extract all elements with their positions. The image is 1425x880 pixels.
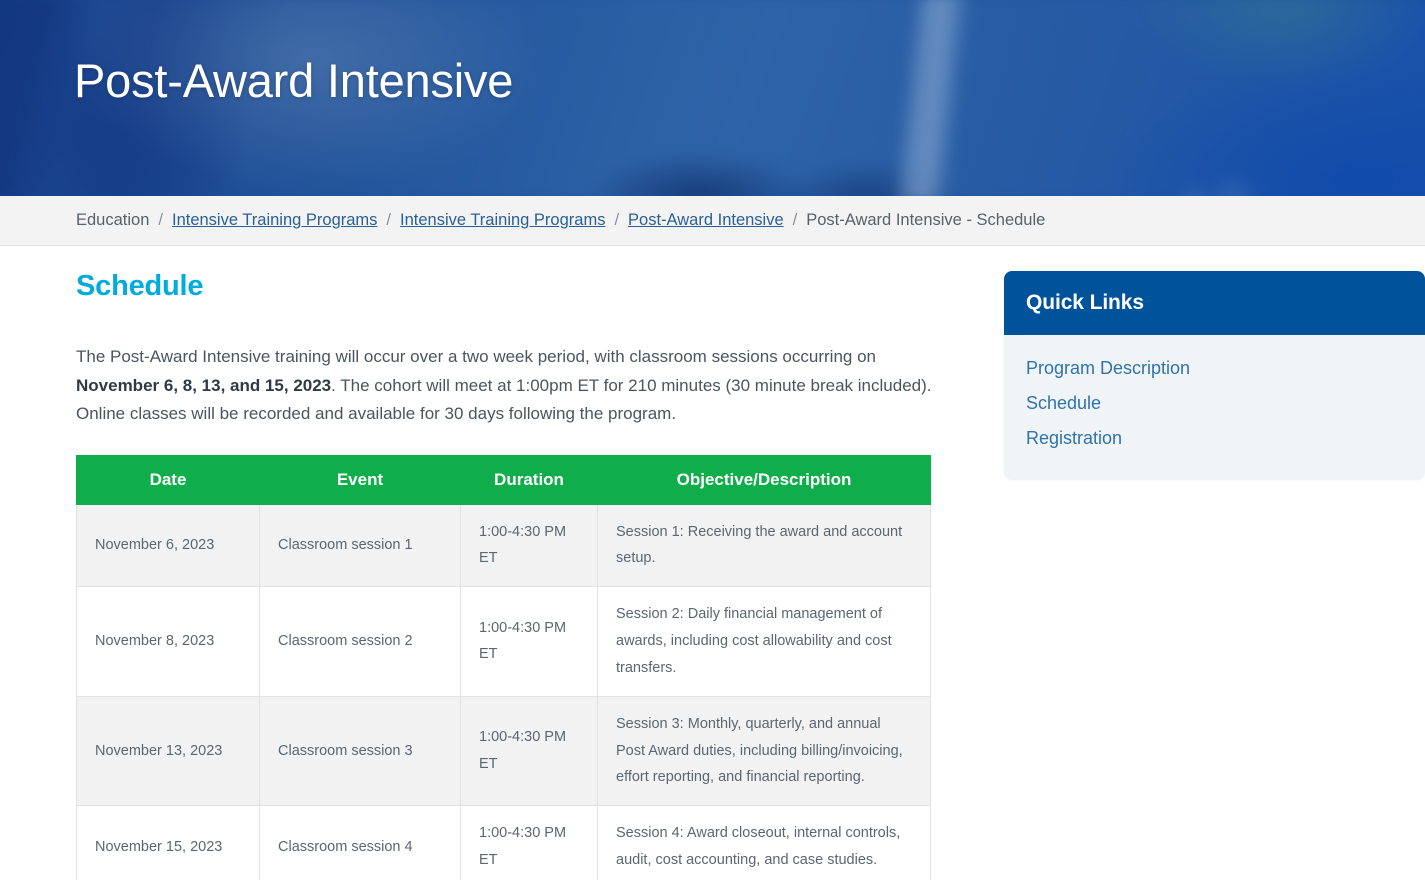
quick-links-body: Program DescriptionScheduleRegistration (1004, 335, 1425, 480)
breadcrumb: Education/Intensive Training Programs/In… (76, 211, 1045, 230)
intro-dates-bold: November 6, 8, 13, and 15, 2023 (76, 376, 331, 395)
schedule-table: Date Event Duration Objective/Descriptio… (76, 455, 931, 880)
cell-duration: 1:00-4:30 PM ET (461, 696, 598, 805)
breadcrumb-item-1: Education (76, 211, 149, 230)
table-row: November 8, 2023Classroom session 21:00-… (77, 587, 931, 696)
column-header-duration: Duration (461, 455, 598, 504)
table-row: November 15, 2023Classroom session 41:00… (77, 806, 931, 880)
breadcrumb-item-5: Post-Award Intensive - Schedule (806, 211, 1045, 230)
schedule-table-body: November 6, 2023Classroom session 11:00-… (77, 504, 931, 880)
breadcrumb-separator: / (614, 211, 619, 230)
breadcrumb-item-3[interactable]: Intensive Training Programs (400, 211, 605, 230)
cell-date: November 6, 2023 (77, 504, 260, 587)
quick-links-title: Quick Links (1026, 291, 1403, 315)
breadcrumb-separator: / (158, 211, 163, 230)
quick-link-item-3[interactable]: Registration (1026, 421, 1403, 456)
page-content: Schedule The Post-Award Intensive traini… (0, 246, 1425, 880)
column-header-objective: Objective/Description (598, 455, 931, 504)
quick-links-panel: Quick Links Program DescriptionScheduleR… (1004, 271, 1425, 480)
table-row: November 13, 2023Classroom session 31:00… (77, 696, 931, 805)
cell-date: November 15, 2023 (77, 806, 260, 880)
cell-duration: 1:00-4:30 PM ET (461, 587, 598, 696)
cell-duration: 1:00-4:30 PM ET (461, 504, 598, 587)
quick-links-header: Quick Links (1004, 271, 1425, 335)
breadcrumb-separator: / (793, 211, 798, 230)
breadcrumb-bar: Education/Intensive Training Programs/In… (0, 196, 1425, 246)
cell-description: Session 1: Receiving the award and accou… (598, 504, 931, 587)
intro-text-part1: The Post-Award Intensive training will o… (76, 347, 876, 366)
quick-link-item-2[interactable]: Schedule (1026, 386, 1403, 421)
schedule-table-head: Date Event Duration Objective/Descriptio… (77, 455, 931, 504)
section-title: Schedule (76, 270, 958, 303)
quick-link-item-1[interactable]: Program Description (1026, 351, 1403, 386)
intro-paragraph: The Post-Award Intensive training will o… (76, 343, 934, 429)
cell-event: Classroom session 4 (260, 806, 461, 880)
cell-event: Classroom session 2 (260, 587, 461, 696)
page-title: Post-Award Intensive (74, 53, 513, 109)
cell-duration: 1:00-4:30 PM ET (461, 806, 598, 880)
column-header-event: Event (260, 455, 461, 504)
breadcrumb-item-4[interactable]: Post-Award Intensive (628, 211, 784, 230)
sidebar-column: Quick Links Program DescriptionScheduleR… (1004, 246, 1425, 480)
hero-banner: Post-Award Intensive (0, 0, 1425, 196)
cell-event: Classroom session 1 (260, 504, 461, 587)
cell-description: Session 2: Daily financial management of… (598, 587, 931, 696)
main-column: Schedule The Post-Award Intensive traini… (76, 246, 958, 880)
cell-event: Classroom session 3 (260, 696, 461, 805)
cell-date: November 8, 2023 (77, 587, 260, 696)
breadcrumb-item-2[interactable]: Intensive Training Programs (172, 211, 377, 230)
cell-date: November 13, 2023 (77, 696, 260, 805)
breadcrumb-separator: / (386, 211, 391, 230)
cell-description: Session 3: Monthly, quarterly, and annua… (598, 696, 931, 805)
cell-description: Session 4: Award closeout, internal cont… (598, 806, 931, 880)
table-row: November 6, 2023Classroom session 11:00-… (77, 504, 931, 587)
table-header-row: Date Event Duration Objective/Descriptio… (77, 455, 931, 504)
column-header-date: Date (77, 455, 260, 504)
